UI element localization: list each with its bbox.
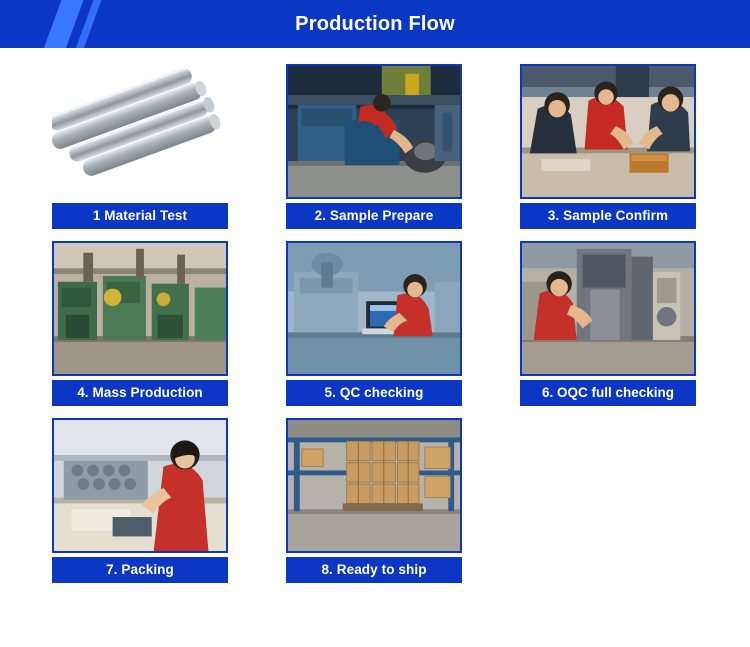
steel-rods-bundle-image [52,64,228,199]
flow-step-7-label: 7. Packing [52,557,228,583]
flow-step-1-label: 1 Material Test [52,203,228,229]
flow-step-3-label: 3. Sample Confirm [520,203,696,229]
warehouse-pallet-of-cartons-image [286,418,462,553]
flow-step-5[interactable]: 5. QC checking [286,241,462,406]
woman-packing-parts-image [52,418,228,553]
production-flow-grid: 1 Material Test [0,48,750,583]
flow-empty-slot [520,418,696,583]
flow-step-3[interactable]: 3. Sample Confirm [520,64,696,229]
three-men-inspecting-parts-image [520,64,696,199]
flow-step-5-label: 5. QC checking [286,380,462,406]
worker-at-testing-machine-image [520,241,696,376]
page-title: Production Flow [0,0,750,48]
flow-step-2[interactable]: 2. Sample Prepare [286,64,462,229]
flow-row: 7. Packing [52,418,750,583]
flow-step-4[interactable]: 4. Mass Production [52,241,228,406]
operator-at-measuring-computer-image [286,241,462,376]
flow-step-1[interactable]: 1 Material Test [52,64,228,229]
flow-step-6[interactable]: 6. OQC full checking [520,241,696,406]
factory-machine-row-image [52,241,228,376]
flow-step-2-label: 2. Sample Prepare [286,203,462,229]
flow-step-7[interactable]: 7. Packing [52,418,228,583]
flow-row: 4. Mass Production [52,241,750,406]
flow-step-6-label: 6. OQC full checking [520,380,696,406]
flow-step-8-label: 8. Ready to ship [286,557,462,583]
flow-step-4-label: 4. Mass Production [52,380,228,406]
page-header: Production Flow [0,0,750,48]
worker-at-press-machine-image [286,64,462,199]
flow-step-8[interactable]: 8. Ready to ship [286,418,462,583]
flow-row: 1 Material Test [52,64,750,229]
